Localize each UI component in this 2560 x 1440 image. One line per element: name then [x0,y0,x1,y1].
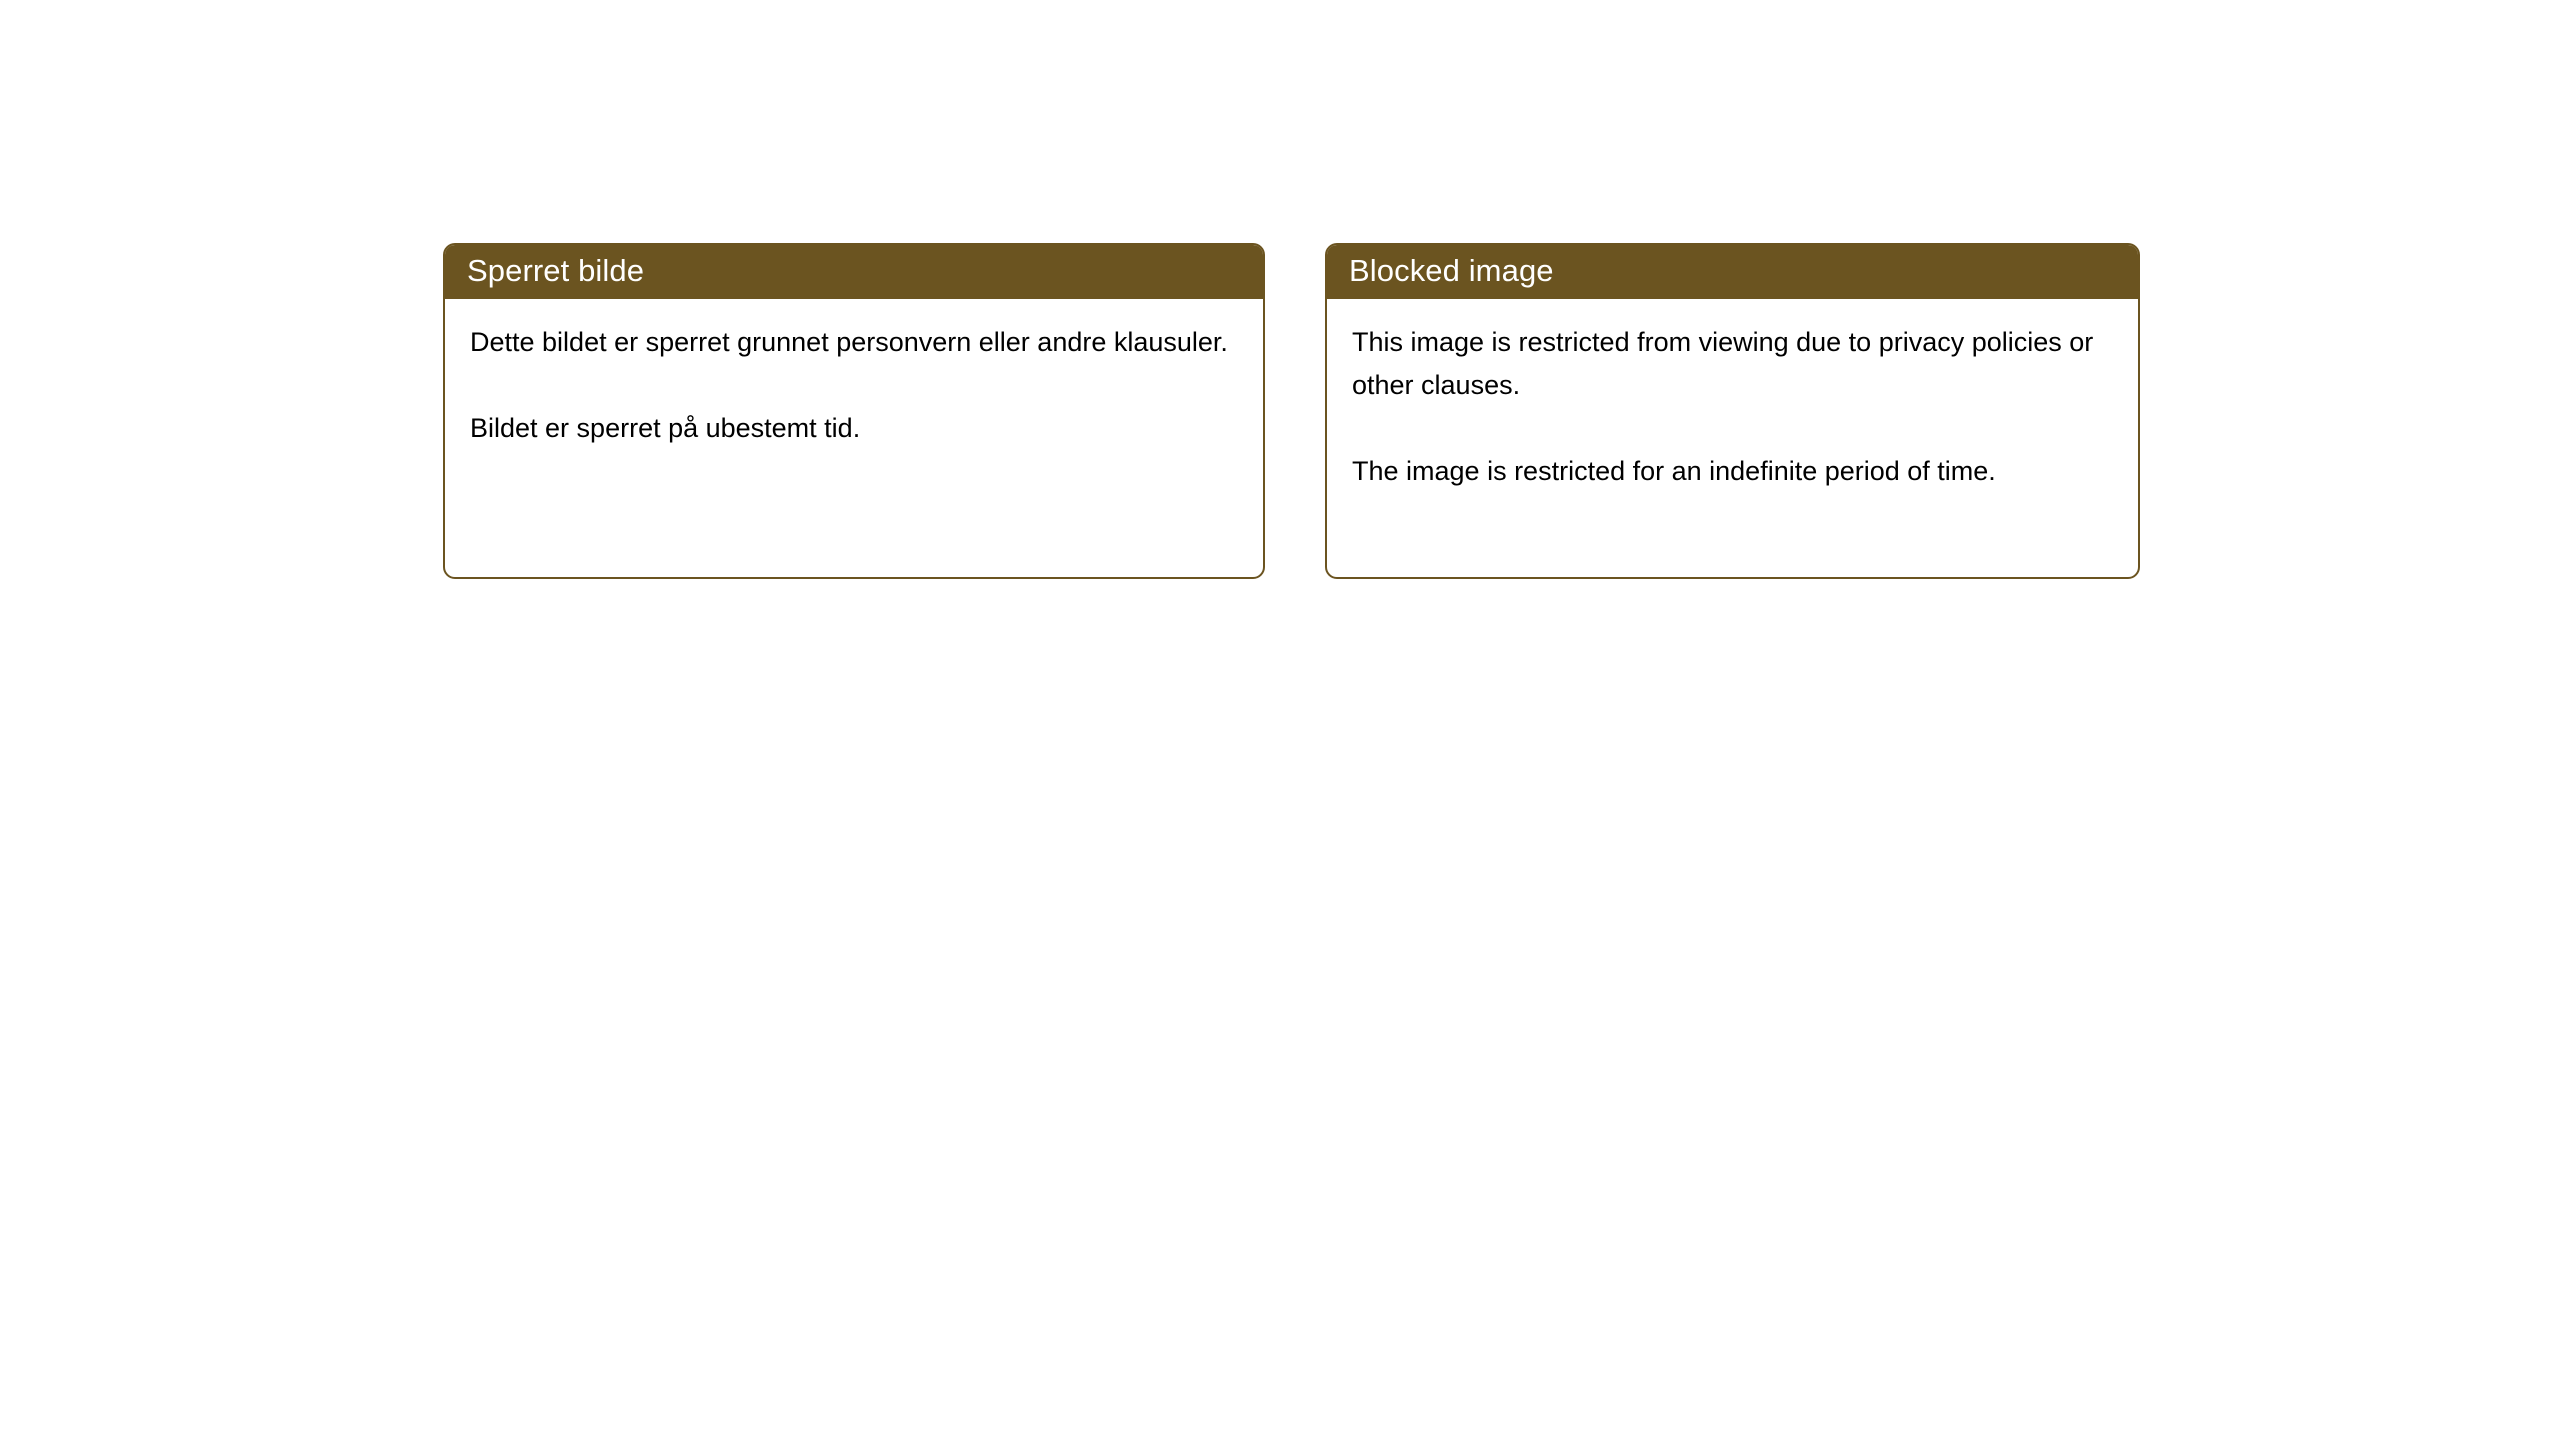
panel-body-norwegian: Dette bildet er sperret grunnet personve… [445,299,1263,450]
panel-header-english: Blocked image [1325,243,2140,299]
panel-title-norwegian: Sperret bilde [467,253,644,289]
panel-header-norwegian: Sperret bilde [443,243,1265,299]
paragraph-spacer [1352,407,2118,450]
panel-title-english: Blocked image [1349,253,1554,289]
panel-paragraph-norwegian-1: Dette bildet er sperret grunnet personve… [470,321,1230,364]
panel-paragraph-english-1: This image is restricted from viewing du… [1352,321,2112,407]
blocked-image-notice-english: Blocked image This image is restricted f… [1325,243,2140,579]
blocked-image-notice-norwegian: Sperret bilde Dette bildet er sperret gr… [443,243,1265,579]
page-canvas: Sperret bilde Dette bildet er sperret gr… [0,0,2560,1440]
paragraph-spacer [470,364,1243,407]
panel-paragraph-english-2: The image is restricted for an indefinit… [1352,450,2112,493]
panel-paragraph-norwegian-2: Bildet er sperret på ubestemt tid. [470,407,1230,450]
panel-body-english: This image is restricted from viewing du… [1327,299,2138,493]
